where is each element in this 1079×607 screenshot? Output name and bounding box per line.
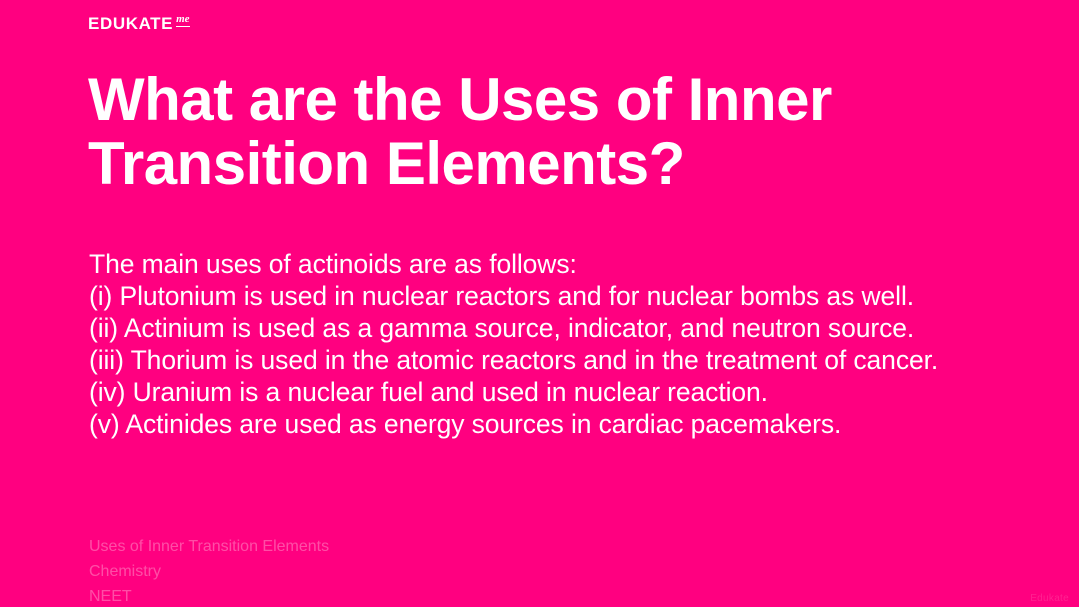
slide-body-text: The main uses of actinoids are as follow… xyxy=(89,248,1019,440)
footer-exam: NEET xyxy=(89,584,329,607)
footer-topic: Uses of Inner Transition Elements xyxy=(89,534,329,559)
slide-footer: Uses of Inner Transition Elements Chemis… xyxy=(89,534,329,607)
watermark-label: Edukate xyxy=(1030,593,1069,604)
brand-logo: EDUKATE me xyxy=(88,15,190,32)
slide-title: What are the Uses of Inner Transition El… xyxy=(88,68,988,195)
footer-subject: Chemistry xyxy=(89,559,329,584)
slide-canvas: EDUKATE me What are the Uses of Inner Tr… xyxy=(0,0,1079,607)
brand-logo-main: EDUKATE xyxy=(88,15,173,32)
brand-logo-sub: me xyxy=(176,14,189,27)
